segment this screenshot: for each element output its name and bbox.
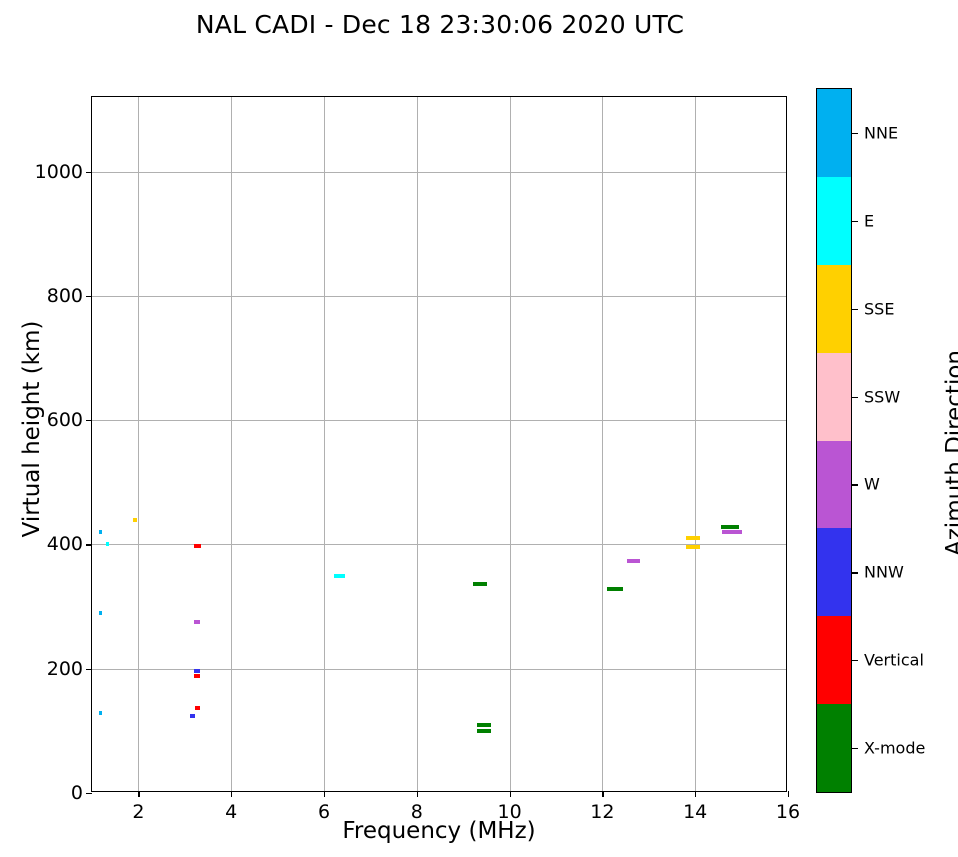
gridline-vertical: [417, 97, 418, 791]
gridline-horizontal: [92, 296, 786, 297]
x-axis-tick: [138, 791, 139, 797]
x-axis-tick: [695, 791, 696, 797]
colorbar-segment-x-mode: [817, 704, 851, 792]
data-mark: [686, 545, 700, 549]
y-axis-tick-label: 200: [47, 658, 83, 680]
gridline-vertical: [695, 97, 696, 791]
colorbar-segment-sse: [817, 265, 851, 353]
colorbar-tick: [851, 572, 858, 573]
x-axis-label: Frequency (MHz): [91, 818, 787, 844]
colorbar-label: Azimuth Direction: [942, 293, 958, 613]
y-axis-tick: [86, 793, 92, 794]
y-axis-tick-label: 800: [47, 285, 83, 307]
colorbar-label-nne: NNE: [864, 123, 898, 142]
plot-axes: 02004006008001000246810121416: [91, 96, 787, 792]
x-axis-tick: [231, 791, 232, 797]
colorbar-label-e: E: [864, 211, 874, 230]
y-axis-tick: [86, 172, 92, 173]
data-mark: [722, 530, 741, 534]
gridline-horizontal: [92, 420, 786, 421]
colorbar-tick: [851, 309, 858, 310]
colorbar-segment-w: [817, 441, 851, 529]
x-axis-tick: [417, 791, 418, 797]
colorbar-tick: [851, 221, 858, 222]
y-axis-label: Virtual height (km): [19, 279, 45, 579]
data-mark: [334, 574, 345, 578]
gridline-horizontal: [92, 172, 786, 173]
colorbar-label-ssw: SSW: [864, 387, 900, 406]
data-mark: [607, 587, 623, 591]
data-mark: [477, 723, 491, 727]
y-axis-tick: [86, 544, 92, 545]
gridline-vertical: [324, 97, 325, 791]
data-mark: [194, 674, 200, 678]
colorbar-label-sse: SSE: [864, 299, 894, 318]
ionogram-figure: NAL CADI - Dec 18 23:30:06 2020 UTC 0200…: [0, 0, 958, 857]
colorbar-segment-vertical: [817, 616, 851, 704]
figure-title: NAL CADI - Dec 18 23:30:06 2020 UTC: [0, 10, 880, 39]
colorbar-segment-ssw: [817, 353, 851, 441]
data-mark: [99, 711, 102, 715]
colorbar-tick: [851, 660, 858, 661]
data-mark: [133, 518, 137, 522]
y-axis-tick: [86, 669, 92, 670]
data-mark: [194, 544, 201, 548]
colorbar-segment-e: [817, 177, 851, 265]
y-axis-tick: [86, 296, 92, 297]
colorbar-label-nnw: NNW: [864, 563, 904, 582]
gridline-vertical: [231, 97, 232, 791]
data-mark: [473, 582, 487, 586]
colorbar-segment-nne: [817, 89, 851, 177]
y-axis-tick-label: 600: [47, 409, 83, 431]
data-mark: [195, 706, 200, 710]
data-mark: [477, 729, 491, 733]
x-axis-tick: [788, 791, 789, 797]
gridline-vertical: [510, 97, 511, 791]
data-mark: [99, 530, 102, 534]
gridline-vertical: [138, 97, 139, 791]
colorbar-tick: [851, 397, 858, 398]
colorbar-tick: [851, 748, 858, 749]
data-mark: [190, 714, 195, 718]
data-mark: [194, 620, 200, 624]
data-mark: [106, 542, 109, 546]
data-mark: [686, 536, 700, 540]
y-axis-tick-label: 400: [47, 533, 83, 555]
plot-area: [92, 97, 786, 791]
colorbar-label-x-mode: X-mode: [864, 739, 925, 758]
y-axis-tick: [86, 420, 92, 421]
colorbar-segment-nnw: [817, 528, 851, 616]
x-axis-tick: [602, 791, 603, 797]
data-mark: [627, 559, 640, 563]
colorbar-label-vertical: Vertical: [864, 651, 924, 670]
y-axis-tick-label: 1000: [35, 161, 83, 183]
colorbar-tick: [851, 484, 858, 485]
data-mark: [99, 611, 102, 615]
data-mark: [721, 525, 740, 529]
gridline-vertical: [602, 97, 603, 791]
y-axis-tick-label: 0: [71, 782, 83, 804]
colorbar-tick: [851, 133, 858, 134]
x-axis-tick: [324, 791, 325, 797]
x-axis-tick: [510, 791, 511, 797]
azimuth-colorbar: NNEESSESSWWNNWVerticalX-mode: [816, 88, 852, 793]
colorbar-label-w: W: [864, 475, 880, 494]
